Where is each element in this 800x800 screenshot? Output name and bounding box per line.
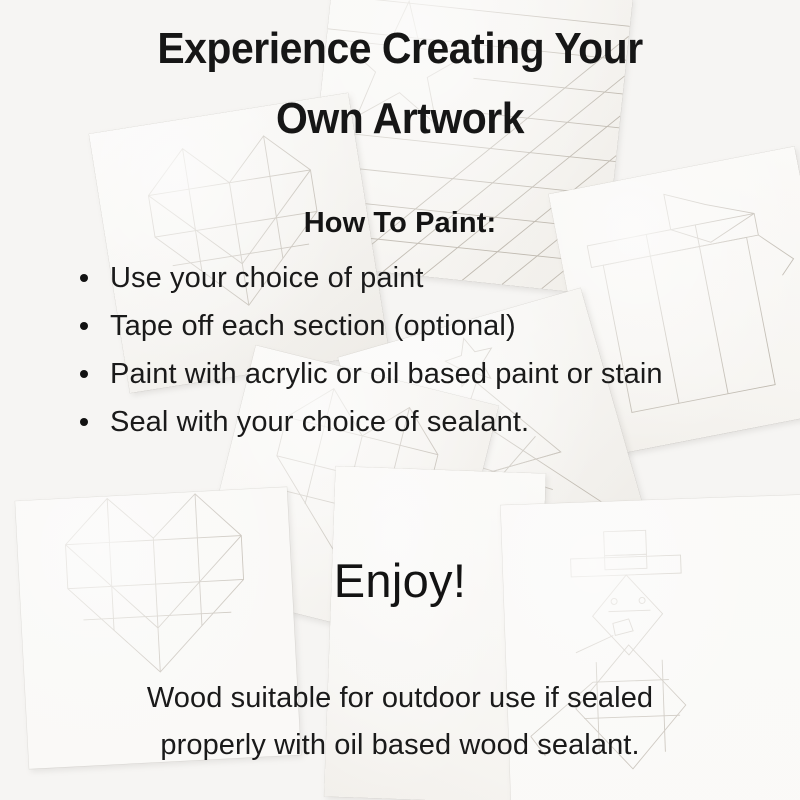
bullet-icon <box>80 418 88 426</box>
list-item: Seal with your choice of sealant. <box>74 398 764 446</box>
list-item-label: Paint with acrylic or oil based paint or… <box>110 358 663 390</box>
enjoy-text: Enjoy! <box>0 553 800 609</box>
list-item: Use your choice of paint <box>74 254 764 302</box>
how-to-paint-heading: How To Paint: <box>0 206 800 240</box>
list-item: Paint with acrylic or oil based paint or… <box>74 350 764 398</box>
footer-line-1: Wood suitable for outdoor use if sealed <box>0 675 800 722</box>
page-title-line-1: Experience Creating Your <box>28 22 772 76</box>
bullet-icon <box>80 322 88 330</box>
how-to-paint-steps: Use your choice of paint Tape off each s… <box>74 254 764 446</box>
page-title-line-2: Own Artwork <box>28 92 772 146</box>
footer-line-2: properly with oil based wood sealant. <box>0 722 800 769</box>
list-item-label: Use your choice of paint <box>110 262 424 294</box>
promo-graphic: Experience Creating Your Own Artwork How… <box>0 0 800 800</box>
bullet-icon <box>80 370 88 378</box>
bullet-icon <box>80 274 88 282</box>
list-item: Tape off each section (optional) <box>74 302 764 350</box>
list-item-label: Tape off each section (optional) <box>110 310 516 342</box>
text-overlay: Experience Creating Your Own Artwork How… <box>0 0 800 800</box>
list-item-label: Seal with your choice of sealant. <box>110 406 529 438</box>
